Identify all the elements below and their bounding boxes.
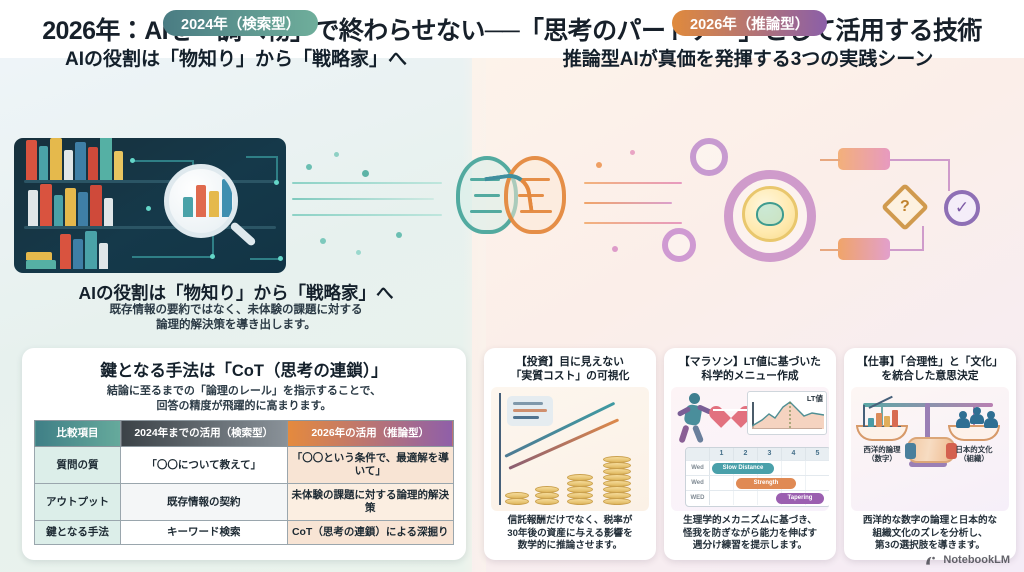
scene-1-title-line1: 【投資】目に見えない [491, 355, 649, 369]
scene-3-desc-line3: 第3の選択肢を導きます。 [851, 540, 1009, 553]
scene-card-work: 【仕事】「合理性」と「文化」 を統合した意思決定 [844, 348, 1016, 560]
scene-2-desc-line3: 週分け練習を提示します。 [671, 540, 829, 553]
table-header-row: 比較項目 2024年までの活用（検索型） 2026年の活用（推論型） [35, 421, 454, 447]
scene-2-title-line1: 【マラソン】LT値に基づいた [671, 355, 829, 369]
schedule-col-5: 5 [806, 448, 829, 460]
scene-2-description: 生理学的メカニズムに基づき、 怪我を防ぎながら能力を伸ばす 週分け練習を提示しま… [671, 515, 829, 553]
schedule-row-label-2: Wed [686, 476, 710, 490]
scale-label-left: 西洋的論理 （数字） [851, 445, 913, 463]
badge-2024: 2024年（検索型） [163, 10, 318, 36]
scale-pan-left [856, 425, 908, 441]
flow-node-input [838, 238, 890, 260]
schedule-header-row: 1 2 3 4 5 [686, 448, 829, 460]
magnifier-handle [229, 221, 257, 247]
scene-3-illustration: 西洋的論理 （数字） 日本的文化 （組織） [851, 387, 1009, 511]
team-people-icon [957, 407, 997, 427]
infographic-page: 2026年：AIを「調べ物」で終わらせない──「思考のパートナー」として活用する… [0, 0, 1024, 572]
watermark-label: NotebookLM [943, 554, 1010, 566]
comparison-table: 比較項目 2024年までの活用（検索型） 2026年の活用（推論型） 質問の質 … [34, 420, 454, 545]
heading-left: AIの役割は「物知り」から「戦略家」へ [0, 44, 472, 71]
scene-3-description: 西洋的な数字の論理と日本的な 組織文化のズレを分析し、 第3の選択肢を導きます。 [851, 515, 1009, 553]
bulb-brain-icon [756, 202, 784, 226]
scale-label-right: 日本的文化 （組織） [943, 445, 1005, 463]
runner-icon [675, 393, 715, 447]
scene-1-title-line2: 「実質コスト」の可視化 [491, 369, 649, 383]
bookshelf-circuit-illustration [14, 138, 286, 273]
scene-3-title-line2: を統合した意思決定 [851, 369, 1009, 383]
scene-3-desc-line2: 組織文化のズレを分析し、 [851, 528, 1009, 541]
schedule-row: WED Tapering [686, 490, 829, 505]
cell-2024-output: 既存情報の契約 [121, 484, 288, 521]
scene-2-desc-line1: 生理学的メカニズムに基づき、 [671, 515, 829, 528]
scale-label-right-line1: 日本的文化 [943, 445, 1005, 454]
scene-3-desc-line1: 西洋的な数字の論理と日本的な [851, 515, 1009, 528]
scene-1-desc-line1: 信託報酬だけでなく、税率が [491, 515, 649, 528]
scale-label-left-line2: （数字） [851, 454, 913, 463]
cot-subtitle-line1: 結論に至るまでの「論理のレール」を指示することで、 [34, 384, 454, 399]
schedule-col-blank [686, 448, 710, 460]
table-row: 質問の質 「〇〇について教えて」 「〇〇という条件で、最適解を導いて」 [35, 447, 454, 484]
schedule-chip-slow-distance: Slow Distance [712, 463, 774, 474]
schedule-row-label-3: WED [686, 491, 710, 505]
scene-2-illustration: LT値 1 2 3 4 5 Wed [671, 387, 829, 511]
watermark: NotebookLM [925, 554, 1010, 566]
gear-top-icon [690, 138, 728, 176]
training-schedule-grid: 1 2 3 4 5 Wed Slow Distance Wed Strength [685, 447, 829, 507]
left-caption-title: AIの役割は「物知り」から「戦略家」へ [0, 280, 472, 305]
cell-2026-output: 未体験の課題に対する論理的解決策 [287, 484, 454, 521]
mini-bar-chart-icon [863, 405, 901, 427]
hero-illustration: ? ✓ [0, 78, 1024, 218]
schedule-row-label-1: Wed [686, 461, 710, 475]
scene-3-title: 【仕事】「合理性」と「文化」 を統合した意思決定 [851, 355, 1009, 383]
schedule-col-3: 3 [758, 448, 782, 460]
scene-1-desc-line3: 数学的に推論させます。 [491, 540, 649, 553]
gear-bottom-icon [662, 228, 696, 262]
scale-label-left-line1: 西洋的論理 [851, 445, 913, 454]
left-caption-sub: 既存情報の要約ではなく、未体験の課題に対する 論理的解決策を導き出します。 [0, 303, 472, 333]
cot-subtitle-line2: 回答の精度が飛躍的に高まります。 [34, 399, 454, 414]
notebooklm-logo-icon [925, 555, 938, 566]
schedule-col-2: 2 [734, 448, 758, 460]
scene-1-description: 信託報酬だけでなく、税率が 30年後の資産に与える影響を 数学的に推論させます。 [491, 515, 649, 553]
left-caption-sub-line1: 既存情報の要約ではなく、未体験の課題に対する [0, 303, 472, 318]
scene-2-title: 【マラソン】LT値に基づいた 科学的メニュー作成 [671, 355, 829, 383]
cot-subtitle: 結論に至るまでの「論理のレール」を指示することで、 回答の精度が飛躍的に高まりま… [34, 384, 454, 413]
lt-threshold-chart: LT値 [747, 391, 827, 435]
cell-2024-question: 「〇〇について教えて」 [121, 447, 288, 484]
cell-2024-method: キーワード検索 [121, 521, 288, 545]
cot-title: 鍵となる手法は「CoT（思考の連鎖）」 [34, 357, 454, 381]
schedule-chip-strength: Strength [736, 478, 796, 489]
cell-2026-method: CoT（思考の連鎖）による深掘り [287, 521, 454, 545]
scene-3-title-line1: 【仕事】「合理性」と「文化」 [851, 355, 1009, 369]
cot-card: 鍵となる手法は「CoT（思考の連鎖）」 結論に至るまでの「論理のレール」を指示す… [22, 348, 466, 560]
scene-card-marathon: 【マラソン】LT値に基づいた 科学的メニュー作成 LT値 [664, 348, 836, 560]
schedule-col-1: 1 [710, 448, 734, 460]
row-label-method: 鍵となる手法 [35, 521, 121, 545]
table-row: アウトプット 既存情報の契約 未体験の課題に対する論理的解決策 [35, 484, 454, 521]
scale-label-right-line2: （組織） [943, 454, 1005, 463]
schedule-row: Wed Strength [686, 475, 829, 490]
schedule-col-4: 4 [782, 448, 806, 460]
scene-2-title-line2: 科学的メニュー作成 [671, 369, 829, 383]
col-header-item: 比較項目 [35, 421, 121, 447]
row-label-question: 質問の質 [35, 447, 121, 484]
scene-1-desc-line2: 30年後の資産に与える影響を [491, 528, 649, 541]
heading-right: 推論型AIが真価を発揮する3つの実践シーン [472, 44, 1024, 71]
schedule-chip-tapering: Tapering [776, 493, 824, 504]
lightbulb-icon [742, 186, 798, 242]
flow-node-start [838, 148, 890, 170]
decision-glyph: ? [900, 198, 910, 216]
scene-1-title: 【投資】目に見えない 「実質コスト」の可視化 [491, 355, 649, 383]
cell-2026-question: 「〇〇という条件で、最適解を導いて」 [287, 447, 454, 484]
scene-2-desc-line2: 怪我を防ぎながら能力を伸ばす [671, 528, 829, 541]
schedule-row: Wed Slow Distance [686, 460, 829, 475]
lt-curve [752, 399, 824, 429]
heartbeat-icon [717, 395, 745, 421]
scene-1-illustration [491, 387, 649, 511]
col-header-2024: 2024年までの活用（検索型） [121, 421, 288, 447]
magnifier-icon [164, 164, 238, 238]
row-label-output: アウトプット [35, 484, 121, 521]
badge-2026: 2026年（推論型） [672, 10, 827, 36]
scene-card-investment: 【投資】目に見えない 「実質コスト」の可視化 [484, 348, 656, 560]
flow-result-check: ✓ [944, 190, 980, 226]
speech-bubble-icon [507, 396, 553, 426]
table-row: 鍵となる手法 キーワード検索 CoT（思考の連鎖）による深掘り [35, 521, 454, 545]
col-header-2026: 2026年の活用（推論型） [287, 421, 454, 447]
left-caption-sub-line2: 論理的解決策を導き出します。 [0, 318, 472, 333]
